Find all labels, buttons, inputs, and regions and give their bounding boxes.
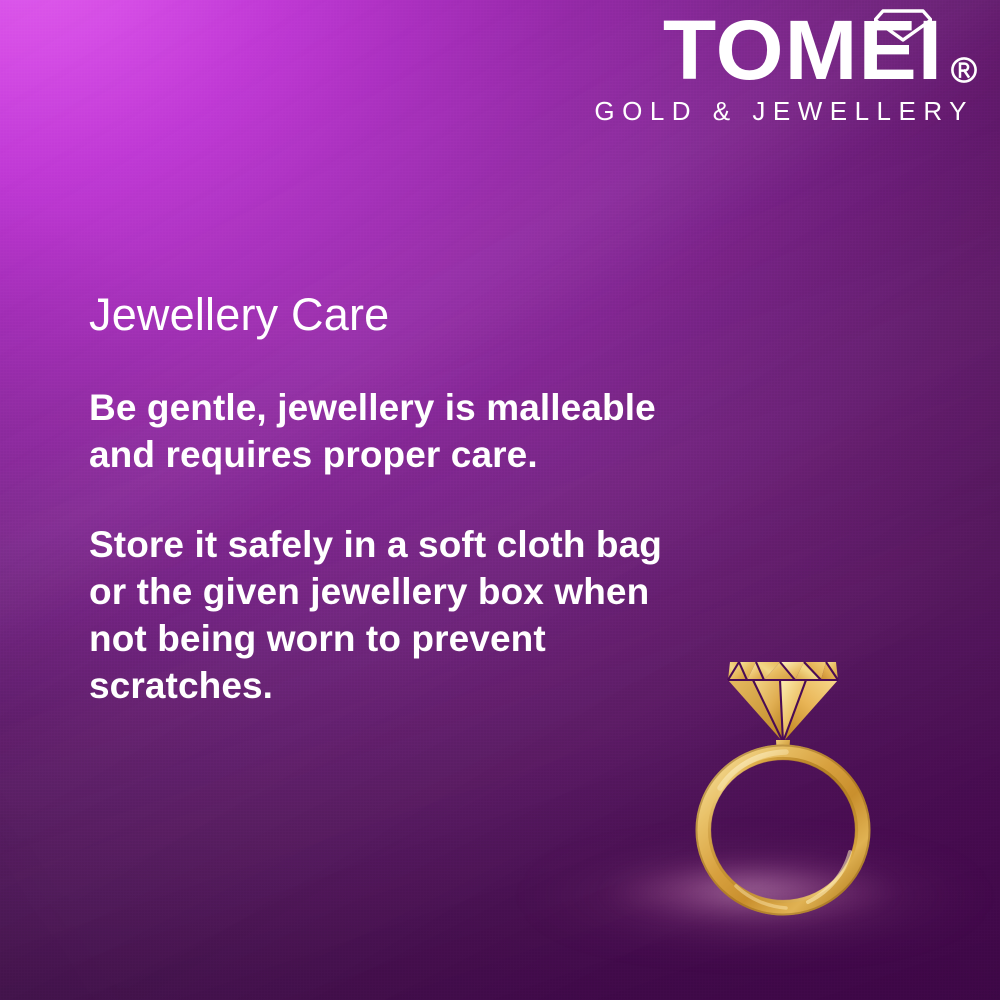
care-paragraph-2: Store it safely in a soft cloth bag or t… <box>89 521 689 709</box>
gem-icon <box>728 662 838 742</box>
page-title: Jewellery Care <box>89 288 689 342</box>
care-paragraph-2-line-1: Store it safely in a soft cloth bag <box>89 521 689 568</box>
brand-logo: TOMEI GOLD & JEWELLERY <box>594 6 978 124</box>
brand-logo-wordmark-row: TOMEI <box>594 6 978 94</box>
registered-trademark-icon <box>950 56 978 84</box>
jewellery-care-poster: TOMEI GOLD & JEWELLERY Jewellery Care Be… <box>0 0 1000 1000</box>
copy-block: Jewellery Care Be gentle, jewellery is m… <box>89 288 689 709</box>
care-paragraph-1: Be gentle, jewellery is malleable and re… <box>89 384 689 478</box>
care-paragraph-2-line-3: not being worn to prevent <box>89 615 689 662</box>
diamond-ring-illustration <box>690 640 900 920</box>
brand-tagline: GOLD & JEWELLERY <box>594 98 978 124</box>
care-paragraph-2-line-2: or the given jewellery box when <box>89 568 689 615</box>
brand-name: TOMEI <box>662 6 978 94</box>
care-paragraph-2-line-4: scratches. <box>89 662 689 709</box>
care-paragraph-1-line-2: and requires proper care. <box>89 431 689 478</box>
care-paragraph-1-line-1: Be gentle, jewellery is malleable <box>89 384 689 431</box>
ring-band-icon <box>697 746 870 915</box>
